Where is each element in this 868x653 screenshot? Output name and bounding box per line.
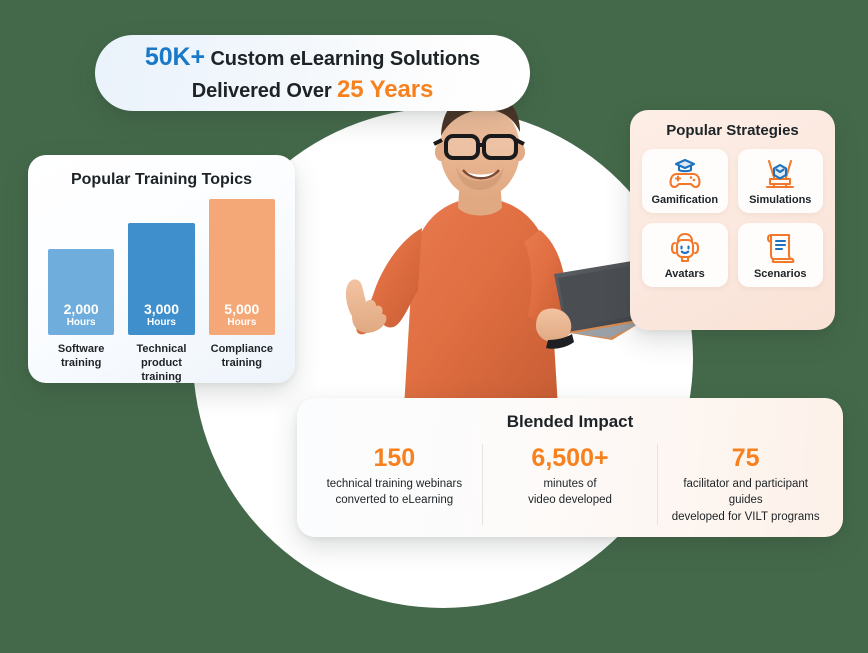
headline-line-1: 50K+ Custom eLearning Solutions xyxy=(145,41,480,74)
impact-title: Blended Impact xyxy=(307,412,833,432)
bar-value: 5,000 xyxy=(224,302,259,317)
stat-number: 6,500+ xyxy=(493,444,648,472)
stat-description: technical training webinars converted to… xyxy=(317,476,472,509)
stat-description: facilitator and participant guides devel… xyxy=(668,476,823,525)
strategy-label: Simulations xyxy=(749,194,811,206)
popular-training-topics-card: Popular Training Topics 2,000 Hours 3,00… xyxy=(28,155,295,383)
bar-technical-product-training: 3,000 Hours xyxy=(128,223,194,335)
bar-value: 2,000 xyxy=(64,302,99,317)
impact-stat-guides: 75 facilitator and participant guides de… xyxy=(657,444,833,525)
simulation-projector-icon xyxy=(762,157,798,191)
bar-compliance-training: 5,000 Hours xyxy=(209,199,275,335)
strategy-tile-simulations[interactable]: Simulations xyxy=(738,149,824,213)
headline-line-2: Delivered Over 25 Years xyxy=(192,74,433,105)
scroll-document-icon xyxy=(762,231,798,265)
bar-label-technical: Technical product training xyxy=(128,342,194,384)
headline-count: 50K+ xyxy=(145,43,205,71)
strategy-label: Avatars xyxy=(665,268,705,280)
topics-title: Popular Training Topics xyxy=(42,171,281,189)
bar-unit: Hours xyxy=(147,317,176,330)
bar-label-compliance: Compliance training xyxy=(209,342,275,384)
bar-value: 3,000 xyxy=(144,302,179,317)
avatar-face-icon xyxy=(667,231,703,265)
headline-banner: 50K+ Custom eLearning Solutions Delivere… xyxy=(95,35,530,111)
headline-line-2-text: Delivered Over xyxy=(192,80,337,102)
strategy-label: Gamification xyxy=(651,194,718,206)
headline-years: 25 Years xyxy=(337,76,433,103)
gamepad-graduation-icon xyxy=(667,157,703,191)
strategy-tile-scenarios[interactable]: Scenarios xyxy=(738,223,824,287)
strategy-tile-gamification[interactable]: Gamification xyxy=(642,149,728,213)
impact-stat-video: 6,500+ minutes of video developed xyxy=(482,444,658,525)
strategy-tiles: Gamification Simulations xyxy=(642,149,823,287)
bar-axis-labels: Software training Technical product trai… xyxy=(42,335,281,384)
impact-stats: 150 technical training webinars converte… xyxy=(307,444,833,525)
bar-label-software: Software training xyxy=(48,342,114,384)
bar-column: 2,000 Hours xyxy=(48,249,114,335)
popular-strategies-card: Popular Strategies Gamification xyxy=(630,110,835,330)
strategies-title: Popular Strategies xyxy=(642,122,823,139)
strategy-label: Scenarios xyxy=(754,268,807,280)
bar-column: 3,000 Hours xyxy=(128,223,194,335)
headline-line-1-text: Custom eLearning Solutions xyxy=(205,48,480,70)
stat-description: minutes of video developed xyxy=(493,476,648,509)
bar-column: 5,000 Hours xyxy=(209,199,275,335)
man-with-laptop-illustration xyxy=(300,78,660,418)
strategy-tile-avatars[interactable]: Avatars xyxy=(642,223,728,287)
bar-software-training: 2,000 Hours xyxy=(48,249,114,335)
impact-stat-webinars: 150 technical training webinars converte… xyxy=(307,444,482,525)
blended-impact-card: Blended Impact 150 technical training we… xyxy=(297,398,843,537)
bar-chart: 2,000 Hours 3,000 Hours 5,000 Hours xyxy=(42,195,281,335)
stat-number: 150 xyxy=(317,444,472,472)
bar-unit: Hours xyxy=(67,317,96,330)
infographic-stage: 50K+ Custom eLearning Solutions Delivere… xyxy=(0,0,868,653)
bar-unit: Hours xyxy=(227,317,256,330)
stat-number: 75 xyxy=(668,444,823,472)
